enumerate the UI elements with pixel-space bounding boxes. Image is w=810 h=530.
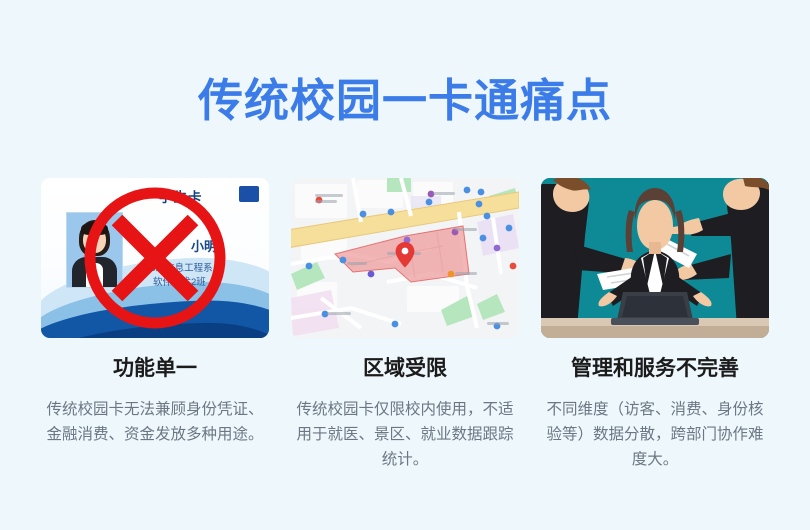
slide-root: { "page": { "title": "传统校园一卡通痛点", "title… [0,0,810,530]
card-heading-1: 功能单一 [113,356,197,381]
card-body-2: 传统校园卡仅限校内使用，不适用于就医、景区、就业数据跟踪统计。 [296,397,514,472]
pain-point-card-1: 学生卡 小明 23级信息工程系 软件技术2班 功能单一 传统校园卡无法兼顾身份凭… [41,178,269,447]
map-canvas [291,178,519,338]
school-logo-icon [239,186,259,202]
pain-point-card-2: 区域受限 传统校园卡仅限校内使用，不适用于就医、景区、就业数据跟踪统计。 [291,178,519,473]
card-body-3: 不同维度（访客、消费、身份核验等）数据分散，跨部门协作难度大。 [546,397,764,472]
campus-map-figure [291,178,519,338]
pain-point-card-3: 管理和服务不完善 不同维度（访客、消费、身份核验等）数据分散，跨部门协作难度大。 [541,178,769,473]
card-body-1: 传统校园卡无法兼顾身份凭证、金融消费、资金发放多种用途。 [46,397,264,447]
page-title: 传统校园一卡通痛点 [0,78,810,123]
pain-point-card-list: 学生卡 小明 23级信息工程系 软件技术2班 功能单一 传统校园卡无法兼顾身份凭… [0,178,810,473]
office-illustration-canvas [541,178,769,338]
office-illustration-figure [541,178,769,338]
red-prohibition-x-icon [80,183,230,333]
laptop-icon [611,292,699,325]
card-heading-2: 区域受限 [363,356,447,381]
student-id-card-figure: 学生卡 小明 23级信息工程系 软件技术2班 [41,178,269,338]
card-heading-3: 管理和服务不完善 [571,356,739,381]
